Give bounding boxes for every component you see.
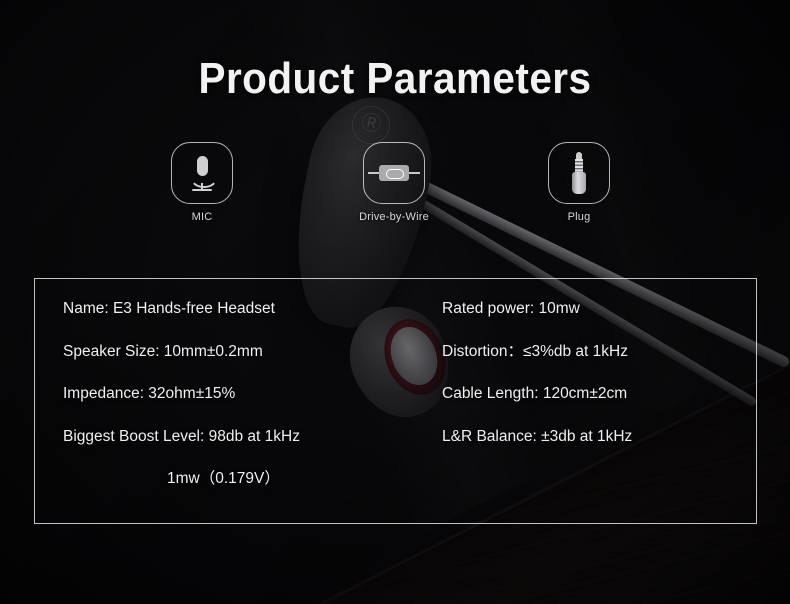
inline-remote-icon [363, 142, 425, 204]
spec-impedance: Impedance: 32ohm±15% [63, 386, 423, 402]
microphone-base-shape [192, 189, 212, 191]
spec-cable-length: Cable Length: 120cm±2cm [442, 386, 742, 402]
specifications-box: Name: E3 Hands-free Headset Speaker Size… [34, 278, 757, 524]
feature-drive-by-wire: Drive-by-Wire [334, 142, 454, 223]
spec-speaker-size: Speaker Size: 10mm±0.2mm [63, 344, 423, 360]
specifications-column-right: Rated power: 10mw Distortion：≤3%db at 1k… [442, 301, 742, 471]
feature-label-mic: MIC [142, 211, 262, 223]
feature-icon-row: MIC Drive-by-Wire Plug [0, 142, 790, 237]
spec-boost-level-continuation: 1mw（0.179V） [63, 471, 423, 487]
spec-lr-balance: L&R Balance: ±3db at 1kHz [442, 429, 742, 445]
feature-mic: MIC [142, 142, 262, 223]
page-title: Product Parameters [32, 54, 759, 104]
spec-rated-power: Rated power: 10mw [442, 301, 742, 317]
audio-jack-plug-icon [548, 142, 610, 204]
spec-distortion: Distortion：≤3%db at 1kHz [442, 344, 742, 360]
plug-rings-shape [575, 159, 583, 173]
feature-plug: Plug [519, 142, 639, 223]
feature-label-drive-by-wire: Drive-by-Wire [334, 211, 454, 223]
specifications-column-left: Name: E3 Hands-free Headset Speaker Size… [63, 301, 423, 487]
product-parameters-page: Ⓡ Product Parameters MIC [0, 0, 790, 604]
microphone-arc-shape [189, 169, 219, 188]
feature-label-plug: Plug [519, 211, 639, 223]
spec-boost-level: Biggest Boost Level: 98db at 1kHz [63, 429, 423, 445]
remote-button-shape [386, 169, 404, 179]
microphone-icon [171, 142, 233, 204]
plug-barrel-shape [572, 172, 586, 194]
spec-name: Name: E3 Hands-free Headset [63, 301, 423, 317]
